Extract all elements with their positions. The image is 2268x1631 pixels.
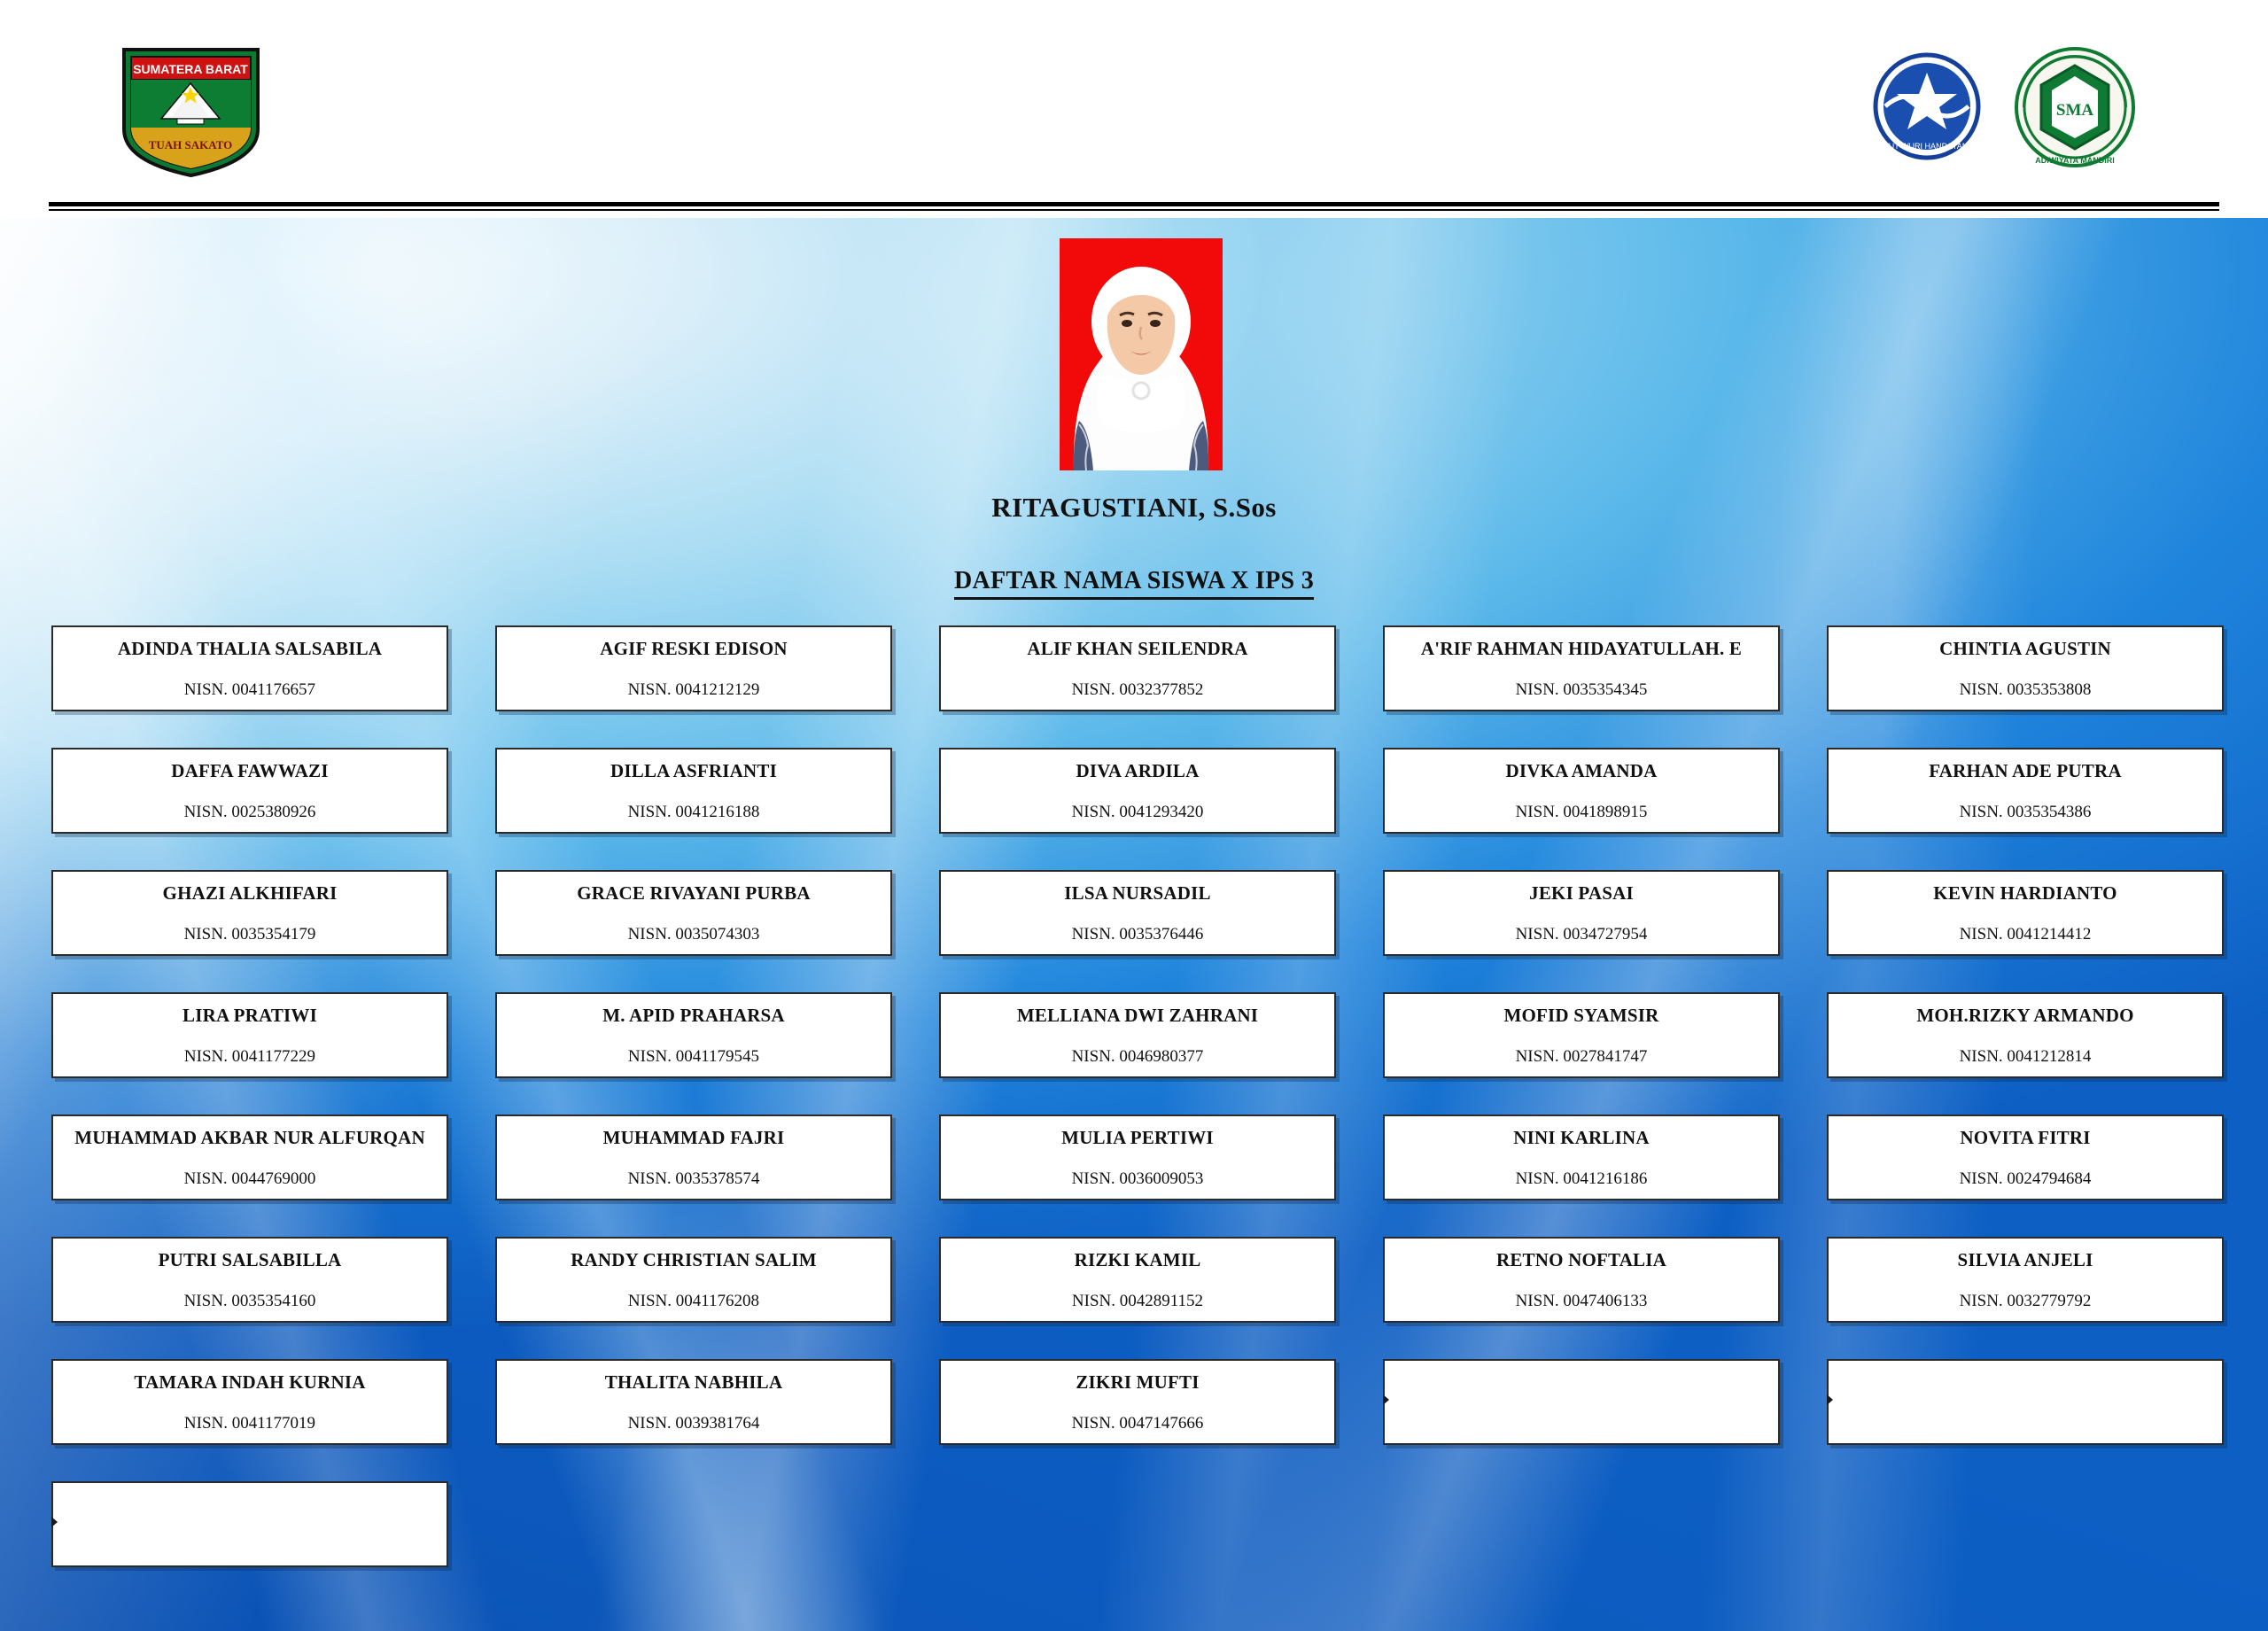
student-name: CHINTIA AGUSTIN [1939,639,2111,659]
student-nisn: NISN. 0034727954 [1516,925,1648,944]
student-name: GHAZI ALKHIFARI [163,883,338,904]
student-card[interactable]: GRACE RIVAYANI PURBANISN. 0035074303 [495,870,892,956]
student-card[interactable]: KEVIN HARDIANTONISN. 0041214412 [1827,870,2224,956]
student-name: MUHAMMAD FAJRI [603,1128,785,1148]
student-card[interactable]: FARHAN ADE PUTRANISN. 0035354386 [1827,748,2224,834]
student-card[interactable]: MELLIANA DWI ZAHRANINISN. 0046980377 [939,992,1336,1078]
student-name: ADINDA THALIA SALSABILA [118,639,382,659]
student-card[interactable]: M. APID PRAHARSANISN. 0041179545 [495,992,892,1078]
school-seal-icon: SMA ADIWIYATA MANDIRI [2009,44,2140,170]
student-nisn: NISN. 0035354386 [1960,803,2092,822]
student-name: DIVA ARDILA [1076,761,1200,781]
student-name: JEKI PASAI [1529,883,1634,904]
student-nisn: NISN. 0032779792 [1960,1292,2092,1311]
student-name: ALIF KHAN SEILENDRA [1027,639,1247,659]
student-card[interactable]: ZIKRI MUFTINISN. 0047147666 [939,1359,1336,1445]
student-card[interactable]: TAMARA INDAH KURNIANISN. 0041177019 [51,1359,448,1445]
student-name: TAMARA INDAH KURNIA [134,1372,365,1393]
student-name: AGIF RESKI EDISON [600,639,788,659]
student-card[interactable] [1383,1359,1780,1445]
student-card[interactable]: RETNO NOFTALIANISN. 0047406133 [1383,1237,1780,1323]
student-name: M. APID PRAHARSA [602,1006,785,1026]
student-card[interactable]: RIZKI KAMILNISN. 0042891152 [939,1237,1336,1323]
svg-text:ADIWIYATA MANDIRI: ADIWIYATA MANDIRI [2035,156,2115,165]
svg-text:TUAH SAKATO: TUAH SAKATO [149,138,233,151]
student-nisn: NISN. 0035376446 [1072,925,1204,944]
student-card[interactable]: THALITA NABHILANISN. 0039381764 [495,1359,892,1445]
student-card[interactable]: NOVITA FITRINISN. 0024794684 [1827,1115,2224,1200]
sumatera-barat-emblem-icon: SUMATERA BARAT TUAH SAKATO [113,37,268,179]
document-page: SUMATERA BARAT TUAH SAKATO TUT WURI HAND… [0,0,2268,1631]
student-nisn: NISN. 0044769000 [184,1169,316,1189]
student-name: MOH.RIZKY ARMANDO [1916,1006,2133,1026]
student-nisn: NISN. 0041212129 [628,680,760,700]
student-name: MULIA PERTIWI [1061,1128,1214,1148]
student-name: ILSA NURSADIL [1064,883,1210,904]
student-nisn: NISN. 0041176208 [628,1292,759,1311]
student-nisn: NISN. 0024794684 [1960,1169,2092,1189]
student-name: A'RIF RAHMAN HIDAYATULLAH. E [1421,639,1742,659]
student-nisn: NISN. 0035353808 [1960,680,2092,700]
student-card[interactable]: DAFFA FAWWAZINISN. 0025380926 [51,748,448,834]
student-card[interactable]: A'RIF RAHMAN HIDAYATULLAH. ENISN. 003535… [1383,625,1780,711]
student-nisn: NISN. 0036009053 [1072,1169,1204,1189]
student-nisn: NISN. 0046980377 [1072,1047,1204,1067]
student-card[interactable]: ILSA NURSADILNISN. 0035376446 [939,870,1336,956]
student-nisn: NISN. 0039381764 [628,1414,760,1433]
student-nisn: NISN. 0027841747 [1516,1047,1648,1067]
student-nisn: NISN. 0041177019 [184,1414,315,1433]
student-nisn: NISN. 0035354179 [184,925,316,944]
student-name: ZIKRI MUFTI [1076,1372,1199,1393]
student-name: MUHAMMAD AKBAR NUR ALFURQAN [74,1128,425,1148]
student-name: DILLA ASFRIANTI [610,761,777,781]
student-card[interactable] [1827,1359,2224,1445]
student-card[interactable]: AGIF RESKI EDISONNISN. 0041212129 [495,625,892,711]
student-card[interactable]: RANDY CHRISTIAN SALIMNISN. 0041176208 [495,1237,892,1323]
teacher-name: RITAGUSTIANI, S.Sos [0,492,2268,524]
student-card[interactable]: ADINDA THALIA SALSABILANISN. 0041176657 [51,625,448,711]
student-name: NINI KARLINA [1513,1128,1650,1148]
svg-text:TUT WURI HANDAYANI: TUT WURI HANDAYANI [1884,142,1970,151]
student-card[interactable]: ALIF KHAN SEILENDRANISN. 0032377852 [939,625,1336,711]
student-name: RIZKI KAMIL [1075,1250,1201,1270]
student-nisn: NISN. 0042891152 [1072,1292,1203,1311]
student-name: KEVIN HARDIANTO [1933,883,2117,904]
student-card[interactable]: MOFID SYAMSIRNISN. 0027841747 [1383,992,1780,1078]
teacher-photo [1060,238,1223,470]
student-card[interactable]: CHINTIA AGUSTINNISN. 0035353808 [1827,625,2224,711]
student-name: SILVIA ANJELI [1958,1250,2093,1270]
svg-text:SUMATERA BARAT: SUMATERA BARAT [133,62,248,76]
student-nisn: NISN. 0041216186 [1516,1169,1648,1189]
page-title-text: DAFTAR NAMA SISWA X IPS 3 [954,567,1314,600]
student-nisn: NISN. 0041177229 [184,1047,315,1067]
student-name: MOFID SYAMSIR [1503,1006,1658,1026]
student-name: RANDY CHRISTIAN SALIM [571,1250,817,1270]
student-nisn: NISN. 0041214412 [1960,925,2092,944]
student-nisn: NISN. 0041176657 [184,680,315,700]
student-nisn: NISN. 0035354345 [1516,680,1648,700]
student-card[interactable]: LIRA PRATIWINISN. 0041177229 [51,992,448,1078]
tut-wuri-handayani-logo-icon: TUT WURI HANDAYANI [1868,51,1987,162]
student-name: FARHAN ADE PUTRA [1929,761,2121,781]
student-card[interactable]: SILVIA ANJELINISN. 0032779792 [1827,1237,2224,1323]
student-nisn: NISN. 0041179545 [628,1047,759,1067]
student-nisn: NISN. 0041216188 [628,803,760,822]
student-nisn: NISN. 0041898915 [1516,803,1648,822]
student-nisn: NISN. 0047147666 [1072,1414,1204,1433]
student-name: GRACE RIVAYANI PURBA [577,883,810,904]
student-nisn: NISN. 0035354160 [184,1292,316,1311]
student-name: THALITA NABHILA [605,1372,782,1393]
student-card[interactable]: JEKI PASAINISN. 0034727954 [1383,870,1780,956]
student-card[interactable]: PUTRI SALSABILLANISN. 0035354160 [51,1237,448,1323]
student-nisn: NISN. 0025380926 [184,803,316,822]
letterhead-rule-thin [49,209,2219,211]
student-nisn: NISN. 0032377852 [1072,680,1204,700]
student-card[interactable]: DIVA ARDILANISN. 0041293420 [939,748,1336,834]
student-name: MELLIANA DWI ZAHRANI [1017,1006,1258,1026]
student-card[interactable]: MUHAMMAD FAJRINISN. 0035378574 [495,1115,892,1200]
student-nisn: NISN. 0041293420 [1072,803,1204,822]
student-card[interactable]: NINI KARLINANISN. 0041216186 [1383,1115,1780,1200]
student-card[interactable]: MOH.RIZKY ARMANDONISN. 0041212814 [1827,992,2224,1078]
svg-text:SMA: SMA [2056,101,2094,120]
student-name: DIVKA AMANDA [1506,761,1658,781]
student-name: LIRA PRATIWI [183,1006,317,1026]
student-name: PUTRI SALSABILLA [159,1250,342,1270]
student-card[interactable]: MULIA PERTIWINISN. 0036009053 [939,1115,1336,1200]
student-name: DAFFA FAWWAZI [171,761,328,781]
student-nisn: NISN. 0047406133 [1516,1292,1648,1311]
student-card[interactable]: GHAZI ALKHIFARINISN. 0035354179 [51,870,448,956]
student-card[interactable]: DILLA ASFRIANTINISN. 0041216188 [495,748,892,834]
letterhead-rule-thick [49,202,2219,206]
student-name: RETNO NOFTALIA [1496,1250,1666,1270]
student-nisn: NISN. 0041212814 [1960,1047,2092,1067]
student-card[interactable]: DIVKA AMANDANISN. 0041898915 [1383,748,1780,834]
student-nisn: NISN. 0035074303 [628,925,760,944]
student-nisn: NISN. 0035378574 [628,1169,760,1189]
student-card-grid: ADINDA THALIA SALSABILANISN. 0041176657A… [51,625,2220,1567]
student-name: NOVITA FITRI [1960,1128,2090,1148]
student-card[interactable]: MUHAMMAD AKBAR NUR ALFURQANNISN. 0044769… [51,1115,448,1200]
page-title: DAFTAR NAMA SISWA X IPS 3 [0,567,2268,595]
student-card[interactable] [51,1481,448,1567]
